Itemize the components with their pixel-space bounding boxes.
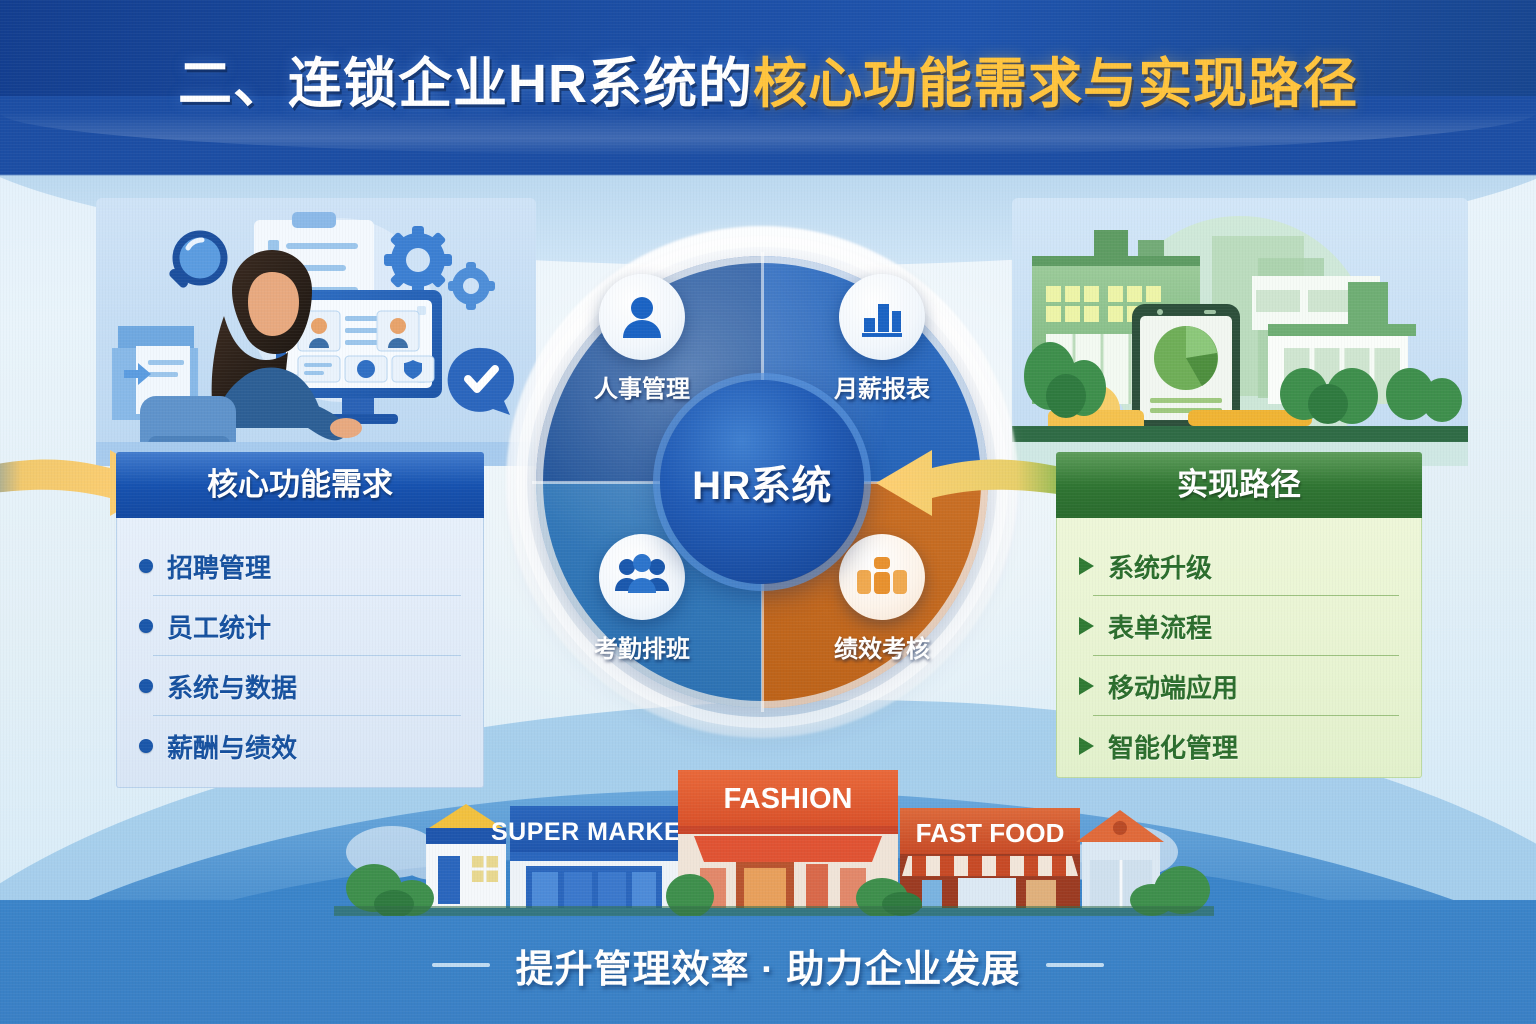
person-icon [599,274,685,360]
page-title: 二、连锁企业HR系统的核心功能需求与实现路径 [0,46,1536,122]
list-item[interactable]: 系统与数据 [139,656,461,716]
bullet-triangle-icon [1079,557,1094,575]
core-requirements-panel: 核心功能需求 招聘管理 员工统计 系统与数据 薪酬与绩效 [116,452,484,788]
implementation-path-panel: 实现路径 系统升级 表单流程 移动端应用 智能化管理 [1056,452,1422,778]
wheel-node-person[interactable]: 人事管理 [578,274,706,404]
divider-dash-icon [432,963,490,967]
bullet-dot-icon [139,619,153,633]
bullet-dot-icon [139,559,153,573]
infographic-canvas: 二、连锁企业HR系统的核心功能需求与实现路径 [0,0,1536,1024]
list-item[interactable]: 系统升级 [1079,536,1399,596]
wheel-node-performance[interactable]: 绩效考核 [818,534,946,664]
core-requirements-heading: 核心功能需求 [116,452,484,518]
implementation-path-list: 系统升级 表单流程 移动端应用 智能化管理 [1057,536,1421,776]
core-requirements-list: 招聘管理 员工统计 系统与数据 薪酬与绩效 [117,536,483,776]
gear-icon [384,226,452,294]
bullet-dot-icon [139,679,153,693]
list-item-label: 移动端应用 [1108,668,1238,705]
wheel-node-report-label: 月薪报表 [818,369,946,404]
wheel-node-performance-label: 绩效考核 [818,629,946,664]
org-chart-icon [839,534,925,620]
core-requirements-body: 招聘管理 员工统计 系统与数据 薪酬与绩效 [116,518,484,788]
wheel-node-attendance-label: 考勤排班 [578,629,706,664]
shop-sign-fastfood: FAST FOOD [916,818,1065,848]
shop-sign-fashion: FASHION [724,783,853,815]
list-item-label: 系统升级 [1108,548,1212,585]
wheel-node-report[interactable]: 月薪报表 [818,274,946,404]
footer-caption-text: 提升管理效率 · 助力企业发展 [516,938,1021,993]
list-item[interactable]: 招聘管理 [139,536,461,596]
wheel-node-attendance[interactable]: 考勤排班 [578,534,706,664]
list-item[interactable]: 员工统计 [139,596,461,656]
hr-officer-at-computer-illustration [96,198,536,466]
shop-sign-supermarket: SUPER MARKET [491,818,697,846]
list-item-label: 薪酬与绩效 [167,728,297,765]
list-item[interactable]: 表单流程 [1079,596,1399,656]
list-item[interactable]: 移动端应用 [1079,656,1399,716]
bar-chart-icon [839,274,925,360]
bullet-triangle-icon [1079,737,1094,755]
list-item-label: 表单流程 [1108,608,1212,645]
list-item-label: 招聘管理 [167,548,271,585]
implementation-path-heading: 实现路径 [1056,452,1422,518]
retail-storefronts-illustration: SUPER MARKET FASHION FAST FOOD [334,756,1214,916]
arrow-left-icon [862,442,1082,524]
tablet-pie-chart-icon [1154,326,1218,390]
bullet-dot-icon [139,739,153,753]
wheel-node-person-label: 人事管理 [578,369,706,404]
page-title-highlight: 核心功能需求与实现路径 [753,54,1358,114]
hr-system-hub-label: HR系统 [692,453,832,511]
divider-dash-icon [1046,963,1104,967]
hr-system-hub[interactable]: HR系统 [660,380,864,584]
chain-stores-buildings-illustration [1012,198,1468,466]
bullet-triangle-icon [1079,617,1094,635]
implementation-path-body: 系统升级 表单流程 移动端应用 智能化管理 [1056,518,1422,778]
list-item-label: 员工统计 [167,608,271,645]
bullet-triangle-icon [1079,677,1094,695]
people-group-icon [599,534,685,620]
list-item-label: 系统与数据 [167,668,297,705]
footer-caption: 提升管理效率 · 助力企业发展 [0,928,1536,1002]
page-title-lead: 二、连锁企业HR系统的 [178,54,753,114]
